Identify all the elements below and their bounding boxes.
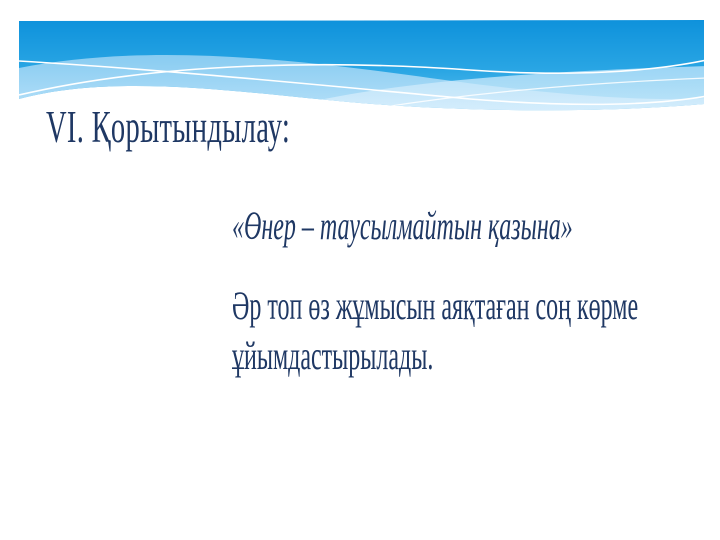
slide-title: VI. Қорытындылау: (46, 104, 290, 150)
body-spacer (232, 248, 702, 286)
body-quote: «Өнер – таусылмайтын қазына» (232, 206, 514, 248)
body-paragraph-line-1: Әр топ өз жұмысын аяқтаған соң көрме (232, 286, 514, 336)
presentation-slide: VI. Қорытындылау: «Өнер – таусылмайтын қ… (0, 0, 720, 540)
slide-body: «Өнер – таусылмайтын қазына» Әр топ өз ж… (232, 206, 702, 386)
body-paragraph-line-2: ұйымдастырылады. (232, 336, 514, 386)
